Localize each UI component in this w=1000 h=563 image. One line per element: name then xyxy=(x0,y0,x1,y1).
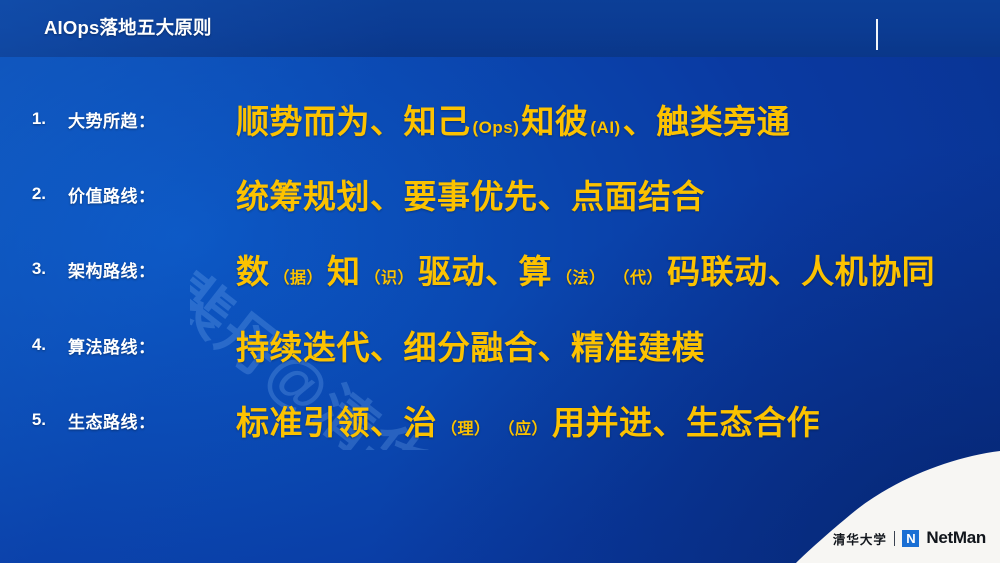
content-run: (AI) xyxy=(588,118,622,138)
list-item-content: 数（据）知（识）驱动、算（法）（代）码联动、人机协同 xyxy=(236,245,935,293)
content-run: 驱动、算 xyxy=(418,245,552,293)
logo-lockup: 清华大学 NetMan xyxy=(833,527,986,549)
content-run: （理） xyxy=(437,415,495,439)
content-run: 数 xyxy=(236,245,270,293)
list-item-label: 生态路线： xyxy=(46,408,224,433)
list-item-content: 顺势而为、知己(Ops)知彼(AI)、触类旁通 xyxy=(236,95,790,143)
list-item-label: 算法路线： xyxy=(46,333,224,358)
list-item-content: 统筹规划、要事优先、点面结合 xyxy=(236,170,705,218)
list-item-number: 1. xyxy=(0,109,46,129)
page-title: AIOps落地五大原则 xyxy=(44,14,212,40)
content-run: 、触类旁通 xyxy=(623,95,791,143)
principles-list: 1. 大势所趋： 顺势而为、知己(Ops)知彼(AI)、触类旁通 2. 价值路线… xyxy=(0,57,1000,487)
slide-canvas: 裴丹@清华大学NetMan实验室 AIOps落地五大原则 1. 大势所趋： 顺势… xyxy=(0,0,1000,563)
list-item: 3. 架构路线： 数（据）知（识）驱动、算（法）（代）码联动、人机协同 xyxy=(0,239,1000,299)
list-item: 1. 大势所趋： 顺势而为、知己(Ops)知彼(AI)、触类旁通 xyxy=(0,89,1000,149)
list-item-number: 5. xyxy=(0,410,46,430)
content-run: 知彼 xyxy=(521,95,588,143)
list-item: 2. 价值路线： 统筹规划、要事优先、点面结合 xyxy=(0,164,1000,224)
content-run: 统筹规划、要事优先、点面结合 xyxy=(236,170,705,218)
list-item: 5. 生态路线： 标准引领、治（理）（应）用并进、生态合作 xyxy=(0,390,1000,450)
content-run: 持续迭代、细分融合、精准建模 xyxy=(236,321,705,369)
content-run: (Ops) xyxy=(471,118,522,138)
slide-header: AIOps落地五大原则 xyxy=(0,0,1000,57)
content-run: （法） xyxy=(552,264,610,288)
list-item-label: 大势所趋： xyxy=(46,107,224,132)
content-run: （应） xyxy=(495,415,553,439)
list-item-label: 架构路线： xyxy=(46,257,224,282)
content-run: （据） xyxy=(270,264,328,288)
netman-wordmark: NetMan xyxy=(926,528,986,548)
list-item-number: 3. xyxy=(0,259,46,279)
list-item-label: 价值路线： xyxy=(46,182,224,207)
content-run: （识） xyxy=(361,264,419,288)
list-item-content: 标准引领、治（理）（应）用并进、生态合作 xyxy=(236,396,820,444)
tsinghua-university-logo: 清华大学 xyxy=(833,529,887,548)
content-run: 用并进、生态合作 xyxy=(552,396,820,444)
list-item: 4. 算法路线： 持续迭代、细分融合、精准建模 xyxy=(0,315,1000,375)
logo-separator xyxy=(894,531,896,546)
content-run: 知 xyxy=(327,245,361,293)
list-item-number: 2. xyxy=(0,184,46,204)
header-divider-rule xyxy=(876,19,878,50)
content-run: （代） xyxy=(610,264,668,288)
list-item-number: 4. xyxy=(0,335,46,355)
content-run: 码联动、人机协同 xyxy=(667,245,935,293)
content-run: 顺势而为、知己 xyxy=(236,95,471,143)
list-item-content: 持续迭代、细分融合、精准建模 xyxy=(236,321,705,369)
content-run: 标准引领、治 xyxy=(236,396,437,444)
netman-mark-icon xyxy=(902,530,919,547)
